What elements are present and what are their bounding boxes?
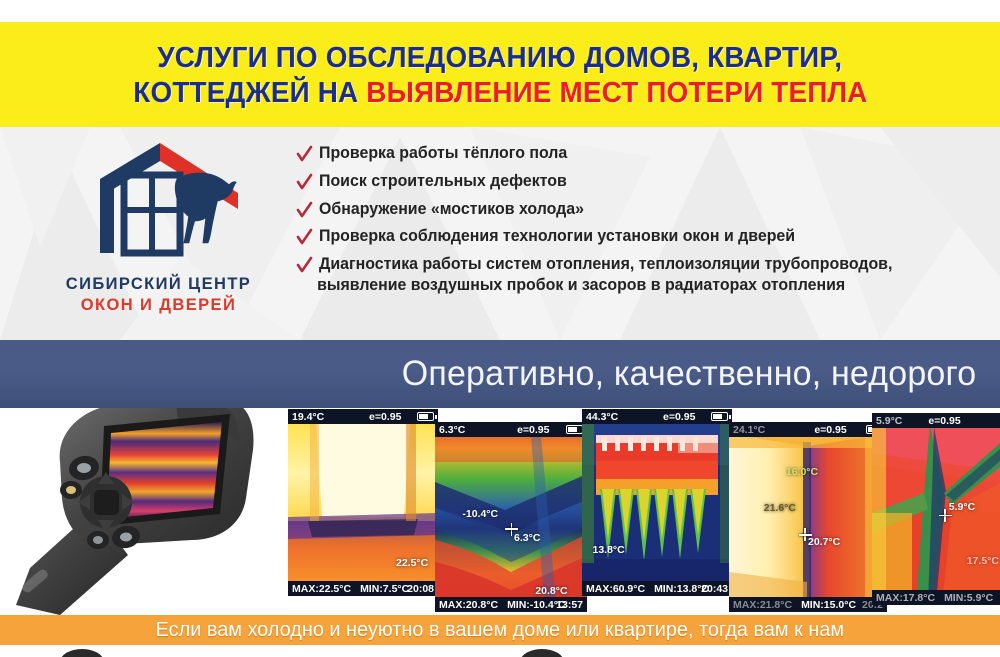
thermal-5-crosshair-icon [939,509,952,522]
footer-banner: Если вам холодно и неуютно в вашем доме … [0,615,1000,645]
service-text: Проверка соблюдения технологии установки… [319,226,795,247]
thermal-image-1: 19.4°C e=0.95 22.5°C MAX:22.5°C MIN:7.5°… [288,409,438,596]
thermal-2-emissivity: e=0.95 [517,424,549,436]
battery-icon [566,425,583,434]
thermal-image-3: 44.3°C e=0.95 13.8°C MAX:60.9°C MIN:13.8… [582,409,732,596]
thermal-4-spot-a: 16.0°C [786,466,818,478]
thermal-1-emissivity: e=0.95 [369,411,401,423]
battery-icon [417,412,434,421]
thermal-3-bottom-bar: MAX:60.9°C MIN:13.8°C 20:43 [582,581,732,596]
check-icon [296,256,313,275]
service-text-line-2: выявление воздушных пробок и засоров в р… [317,275,892,296]
thermal-scene-3 [582,409,732,596]
check-icon [296,201,313,220]
thermal-5-spot-max: 17.5°C [967,555,999,567]
service-text-line-1: Диагностика работы систем отопления, теп… [319,255,892,273]
thermal-3-max: MAX:60.9°C [586,583,645,595]
headline-line-2-highlight: ВЫЯВЛЕНИЕ МЕСТ ПОТЕРИ ТЕПЛА [366,77,867,109]
thermal-scene-5 [872,413,1000,605]
check-icon [296,145,313,164]
thermal-3-spot: 13.8°C [593,544,625,556]
thermal-3-temp: 44.3°C [586,411,618,423]
thermal-4-spot-b: 21.6°C [764,502,796,514]
company-logo: СИБИРСКИЙ ЦЕНТР ОКОН И ДВЕРЕЙ [36,135,281,335]
thermal-1-bottom-bar: MAX:22.5°C MIN:7.5°C 20:08 [288,581,438,596]
headline-line-1: УСЛУГИ ПО ОБСЛЕДОВАНИЮ ДОМОВ, КВАРТИР, [158,43,843,73]
thermal-4-emissivity: e=0.95 [814,424,846,436]
thermal-3-time: 20:43 [701,583,728,595]
thermal-2-time: 13:57 [556,599,583,611]
logo-name-line-2: ОКОН И ДВЕРЕЙ [36,296,281,315]
thermal-1-spot: 22.5°C [396,557,428,569]
battery-icon [711,412,728,421]
list-item: Диагностика работы систем отопления, теп… [296,254,986,296]
thermal-5-emissivity: e=0.95 [928,415,960,427]
thermal-image-4: 24.1°C e=0.95 16.0°C 21.6°C 20.7°C MAX:2… [729,422,887,612]
thermal-1-min: MIN:7.5°C [360,583,409,595]
bottom-white-strip [0,645,1000,657]
thermal-5-bottom-bar: MAX:17.8°C MIN:5.9°C [872,590,1000,605]
thermal-2-temp: 6.3°C [439,424,465,436]
thermal-1-time: 20:08 [407,583,434,595]
thermal-4-spot-c: 20.7°C [808,536,840,548]
thermal-4-temp: 24.1°C [733,424,765,436]
thermal-5-min: MIN:5.9°C [944,592,993,604]
tagline-banner: Оперативно, качественно, недорого [0,340,1000,408]
service-text: Проверка работы тёплого пола [319,143,567,164]
list-item: Проверка соблюдения технологии установки… [296,226,986,247]
thermal-image-5: 5.9°C e=0.95 5.9°C 17.5°C MAX:17.8°C MIN… [872,413,1000,605]
thermal-4-min: MIN:15.0°C [801,599,856,611]
headline-line-2: КОТТЕДЖЕЙ НА ВЫЯВЛЕНИЕ МЕСТ ПОТЕРИ ТЕПЛА [133,78,867,108]
thermal-5-max: MAX:17.8°C [876,592,935,604]
thermal-2-spot-min: -10.4°C [462,508,498,520]
thermal-3-top-bar: 44.3°C e=0.95 [582,409,732,424]
thermal-5-temp: 5.9°C [876,415,902,427]
thermal-scene-4 [729,422,887,612]
thermal-photo-strip: 19.4°C e=0.95 22.5°C MAX:22.5°C MIN:7.5°… [0,408,1000,615]
top-white-strip [0,0,1000,22]
thermal-camera-photo [8,408,298,615]
thermal-image-2: 6.3°C e=0.95 -10.4°C 6.3°C 20.8°C MAX:20… [435,422,587,612]
check-icon [296,173,313,192]
thermal-inspection-advertisement-poster: УСЛУГИ ПО ОБСЛЕДОВАНИЮ ДОМОВ, КВАРТИР, К… [0,0,1000,657]
headline-banner: УСЛУГИ ПО ОБСЛЕДОВАНИЮ ДОМОВ, КВАРТИР, К… [0,22,1000,127]
logo-house-window-bear-icon [88,135,238,267]
thermal-3-emissivity: e=0.95 [663,411,695,423]
headline-line-2-prefix: КОТТЕДЖЕЙ НА [133,77,366,109]
services-section: СИБИРСКИЙ ЦЕНТР ОКОН И ДВЕРЕЙ Проверка р… [0,127,1000,340]
thermal-4-top-bar: 24.1°C e=0.95 [729,422,887,437]
list-item: Поиск строительных дефектов [296,171,986,192]
check-icon [296,228,313,247]
tagline-text: Оперативно, качественно, недорого [401,354,976,394]
thermal-4-max: MAX:21.8°C [733,599,792,611]
thermal-4-bottom-bar: MAX:21.8°C MIN:15.0°C 20:2 [729,597,887,612]
service-text: Обнаружение «мостиков холода» [319,199,584,220]
thermal-1-top-bar: 19.4°C e=0.95 [288,409,438,424]
thermal-scene-2 [435,422,587,612]
list-item: Обнаружение «мостиков холода» [296,199,986,220]
thermal-2-spot-center: 6.3°C [514,532,540,544]
services-list: Проверка работы тёплого пола Поиск строи… [296,143,986,296]
thermal-2-spot-max: 20.8°C [535,585,567,597]
thermal-5-spot-min: 5.9°C [949,501,975,513]
logo-name-line-1: СИБИРСКИЙ ЦЕНТР [36,275,281,294]
thermal-1-temp: 19.4°C [292,411,324,423]
thermal-2-max: MAX:20.8°C [439,599,498,611]
service-text: Поиск строительных дефектов [319,171,567,192]
thermal-1-max: MAX:22.5°C [292,583,351,595]
thermal-2-bottom-bar: MAX:20.8°C MIN:-10.4°C 13:57 [435,597,587,612]
logo-text: СИБИРСКИЙ ЦЕНТР ОКОН И ДВЕРЕЙ [36,275,281,315]
footer-text: Если вам холодно и неуютно в вашем доме … [156,618,844,642]
list-item: Проверка работы тёплого пола [296,143,986,164]
thermal-5-top-bar: 5.9°C e=0.95 [872,413,1000,428]
service-text-multiline: Диагностика работы систем отопления, теп… [319,254,892,296]
thermal-2-top-bar: 6.3°C e=0.95 [435,422,587,437]
